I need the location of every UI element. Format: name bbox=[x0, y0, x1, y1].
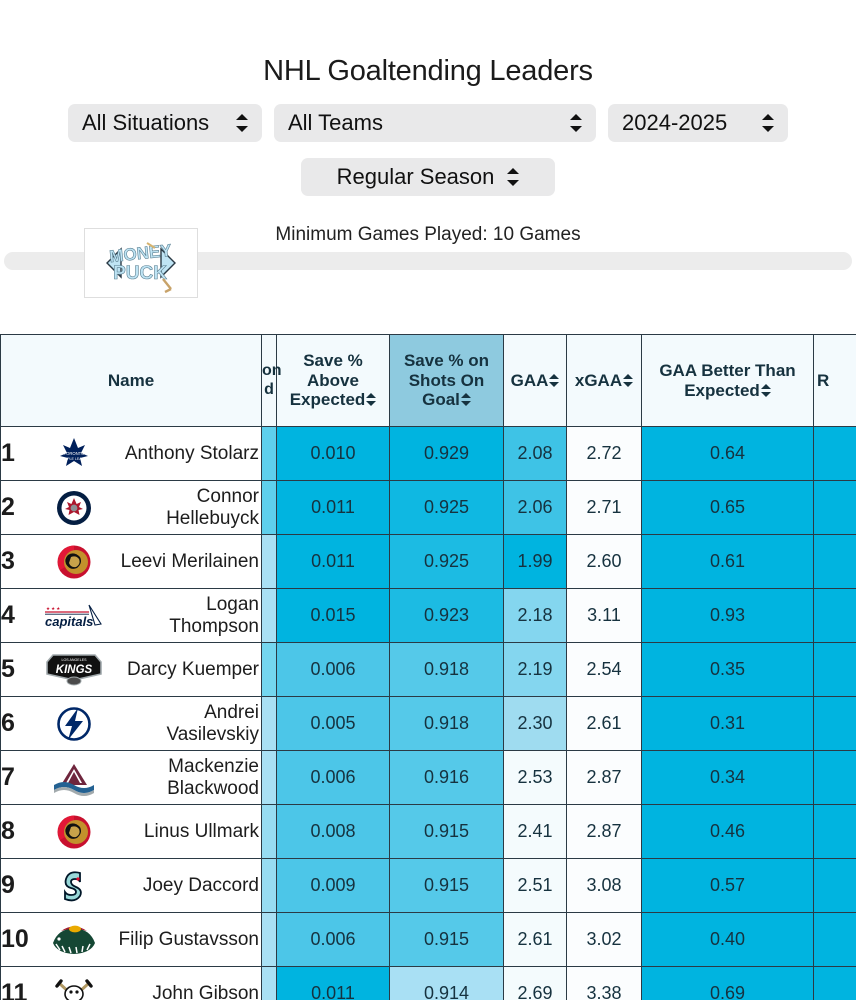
cell-clipped-right-column bbox=[814, 643, 856, 697]
svg-text:KINGS: KINGS bbox=[56, 664, 93, 676]
column-header-clipped-right-label: R bbox=[817, 371, 829, 390]
cell-clipped-column bbox=[262, 913, 277, 967]
situation-select-value: All Situations bbox=[82, 110, 219, 136]
player-name[interactable]: Andrei Vasilevskiy bbox=[113, 702, 261, 745]
svg-text:LOS ANGELES: LOS ANGELES bbox=[62, 658, 88, 662]
team-logo-toronto-maple-leafs-icon[interactable]: TORONTOMAPLE LEAFS bbox=[43, 432, 105, 476]
sort-indicator-icon[interactable] bbox=[461, 392, 471, 407]
team-logo-colorado-avalanche-icon[interactable] bbox=[43, 756, 105, 800]
team-logo-ottawa-senators-icon[interactable] bbox=[43, 810, 105, 854]
cell-gaa-better-than-expected: 0.40 bbox=[642, 913, 814, 967]
cell-save-pct-above-expected: 0.011 bbox=[277, 481, 390, 535]
filter-row-secondary: Regular Season bbox=[0, 158, 856, 196]
cell-save-pct-above-expected: 0.006 bbox=[277, 643, 390, 697]
svg-text:capitals: capitals bbox=[45, 614, 93, 629]
cell-gaa-better-than-expected: 0.46 bbox=[642, 805, 814, 859]
cell-save-pct-above-expected: 0.015 bbox=[277, 589, 390, 643]
season-type-select-value: Regular Season bbox=[337, 164, 507, 190]
column-header-name[interactable]: Name bbox=[1, 335, 262, 427]
table-row[interactable]: 11John Gibson0.0110.9142.693.380.69 bbox=[1, 967, 856, 1000]
rank-number: 8 bbox=[1, 817, 35, 846]
player-name[interactable]: Filip Gustavsson bbox=[113, 929, 261, 950]
column-header-save-pct-shots-on-goal[interactable]: Save % on Shots On Goal bbox=[390, 335, 504, 427]
table-row[interactable]: 6Andrei Vasilevskiy0.0050.9182.302.610.3… bbox=[1, 697, 856, 751]
leaders-table: Name on d Save % Above Expected Save % o… bbox=[0, 334, 856, 1000]
column-header-clipped-top: on bbox=[262, 362, 276, 380]
season-select[interactable]: 2024-2025 bbox=[608, 104, 788, 142]
cell-gaa-better-than-expected: 0.65 bbox=[642, 481, 814, 535]
rank-number: 5 bbox=[1, 655, 35, 684]
cell-rank-name: 5LOS ANGELESKINGSDarcy Kuemper bbox=[1, 643, 262, 697]
cell-clipped-right-column bbox=[814, 805, 856, 859]
cell-clipped-right-column bbox=[814, 859, 856, 913]
cell-gaa-better-than-expected: 0.34 bbox=[642, 751, 814, 805]
cell-xgaa: 2.71 bbox=[567, 481, 642, 535]
cell-xgaa: 2.54 bbox=[567, 643, 642, 697]
cell-xgaa: 3.08 bbox=[567, 859, 642, 913]
rank-number: 2 bbox=[1, 493, 35, 522]
cell-save-pct-shots-on-goal: 0.923 bbox=[390, 589, 504, 643]
sort-indicator-icon[interactable] bbox=[549, 373, 559, 388]
cell-xgaa: 2.87 bbox=[567, 805, 642, 859]
column-header-gaa[interactable]: GAA bbox=[504, 335, 567, 427]
cell-save-pct-above-expected: 0.006 bbox=[277, 913, 390, 967]
chevron-updown-icon bbox=[761, 113, 774, 133]
rank-number: 10 bbox=[1, 925, 35, 954]
team-logo-los-angeles-kings-icon[interactable]: LOS ANGELESKINGS bbox=[43, 648, 105, 692]
rank-number: 9 bbox=[1, 871, 35, 900]
chevron-updown-icon bbox=[506, 167, 519, 187]
cell-save-pct-shots-on-goal: 0.915 bbox=[390, 805, 504, 859]
cell-rank-name: 8Linus Ullmark bbox=[1, 805, 262, 859]
cell-clipped-right-column bbox=[814, 481, 856, 535]
rank-number: 1 bbox=[1, 439, 35, 468]
cell-gaa: 2.51 bbox=[504, 859, 567, 913]
cell-save-pct-shots-on-goal: 0.914 bbox=[390, 967, 504, 1000]
table-row[interactable]: 4★ ★ ★capitalsLogan Thompson0.0150.9232.… bbox=[1, 589, 856, 643]
cell-save-pct-above-expected: 0.008 bbox=[277, 805, 390, 859]
table-row[interactable]: 2Connor Hellebuyck0.0110.9252.062.710.65 bbox=[1, 481, 856, 535]
cell-clipped-right-column bbox=[814, 967, 856, 1000]
cell-clipped-right-column bbox=[814, 589, 856, 643]
cell-clipped-right-column bbox=[814, 427, 856, 481]
cell-gaa: 2.19 bbox=[504, 643, 567, 697]
table-row[interactable]: 1TORONTOMAPLE LEAFSAnthony Stolarz0.0100… bbox=[1, 427, 856, 481]
cell-save-pct-shots-on-goal: 0.918 bbox=[390, 643, 504, 697]
cell-clipped-column bbox=[262, 481, 277, 535]
cell-gaa: 2.41 bbox=[504, 805, 567, 859]
cell-gaa-better-than-expected: 0.64 bbox=[642, 427, 814, 481]
cell-gaa-better-than-expected: 0.69 bbox=[642, 967, 814, 1000]
cell-gaa-better-than-expected: 0.35 bbox=[642, 643, 814, 697]
team-logo-seattle-kraken-icon[interactable] bbox=[43, 864, 105, 908]
cell-rank-name: 6Andrei Vasilevskiy bbox=[1, 697, 262, 751]
column-header-xgaa-label: xGAA bbox=[575, 371, 622, 390]
cell-gaa: 2.69 bbox=[504, 967, 567, 1000]
team-logo-ottawa-senators-icon[interactable] bbox=[43, 540, 105, 584]
rank-number: 4 bbox=[1, 601, 35, 630]
cell-xgaa: 3.38 bbox=[567, 967, 642, 1000]
chevron-updown-icon bbox=[569, 113, 582, 133]
cell-xgaa: 2.87 bbox=[567, 751, 642, 805]
cell-clipped-column bbox=[262, 535, 277, 589]
cell-clipped-column bbox=[262, 805, 277, 859]
cell-rank-name: 3Leevi Merilainen bbox=[1, 535, 262, 589]
team-logo-anaheim-ducks-icon[interactable] bbox=[43, 972, 105, 1000]
player-name[interactable]: Mackenzie Blackwood bbox=[113, 756, 261, 799]
cell-save-pct-shots-on-goal: 0.929 bbox=[390, 427, 504, 481]
cell-clipped-column bbox=[262, 859, 277, 913]
cell-rank-name: 11John Gibson bbox=[1, 967, 262, 1000]
team-logo-winnipeg-jets-icon[interactable] bbox=[43, 486, 105, 530]
cell-xgaa: 3.11 bbox=[567, 589, 642, 643]
player-name[interactable]: Joey Daccord bbox=[113, 875, 261, 896]
cell-clipped-column bbox=[262, 697, 277, 751]
table-row[interactable]: 8Linus Ullmark0.0080.9152.412.870.46 bbox=[1, 805, 856, 859]
sort-indicator-icon[interactable] bbox=[761, 383, 771, 398]
player-name[interactable]: Linus Ullmark bbox=[113, 821, 261, 842]
table-row[interactable]: 3Leevi Merilainen0.0110.9251.992.600.61 bbox=[1, 535, 856, 589]
cell-rank-name: 4★ ★ ★capitalsLogan Thompson bbox=[1, 589, 262, 643]
cell-clipped-right-column bbox=[814, 913, 856, 967]
sort-indicator-icon[interactable] bbox=[623, 373, 633, 388]
team-logo-minnesota-wild-icon[interactable] bbox=[43, 918, 105, 962]
svg-text:★ ★ ★: ★ ★ ★ bbox=[46, 606, 60, 611]
cell-gaa: 2.61 bbox=[504, 913, 567, 967]
cell-clipped-column bbox=[262, 427, 277, 481]
svg-text:MAPLE LEAFS: MAPLE LEAFS bbox=[62, 457, 87, 461]
player-name[interactable]: Darcy Kuemper bbox=[113, 659, 261, 680]
cell-clipped-column bbox=[262, 967, 277, 1000]
rank-number: 7 bbox=[1, 763, 35, 792]
cell-save-pct-above-expected: 0.005 bbox=[277, 697, 390, 751]
player-name[interactable]: Logan Thompson bbox=[113, 594, 261, 637]
column-header-xgaa[interactable]: xGAA bbox=[567, 335, 642, 427]
team-logo-washington-capitals-icon[interactable]: ★ ★ ★capitals bbox=[43, 594, 105, 638]
cell-save-pct-shots-on-goal: 0.925 bbox=[390, 535, 504, 589]
rank-number: 11 bbox=[1, 979, 35, 1000]
cell-xgaa: 2.72 bbox=[567, 427, 642, 481]
cell-clipped-right-column bbox=[814, 751, 856, 805]
player-name[interactable]: Anthony Stolarz bbox=[113, 443, 261, 464]
column-header-save-pct-shots-on-goal-label: Save % on Shots On Goal bbox=[404, 351, 489, 409]
column-header-gaa-better-than-expected[interactable]: GAA Better Than Expected bbox=[642, 335, 814, 427]
rank-number: 3 bbox=[1, 547, 35, 576]
column-header-clipped-right[interactable]: R bbox=[814, 335, 856, 427]
cell-clipped-column bbox=[262, 643, 277, 697]
cell-clipped-right-column bbox=[814, 697, 856, 751]
cell-gaa: 2.53 bbox=[504, 751, 567, 805]
table-body: 1TORONTOMAPLE LEAFSAnthony Stolarz0.0100… bbox=[1, 427, 856, 1000]
filter-row-primary: All Situations All Teams 2024-2025 bbox=[0, 104, 856, 142]
cell-gaa: 1.99 bbox=[504, 535, 567, 589]
cell-rank-name: 9Joey Daccord bbox=[1, 859, 262, 913]
cell-rank-name: 7Mackenzie Blackwood bbox=[1, 751, 262, 805]
column-header-clipped[interactable]: on d bbox=[262, 335, 277, 427]
team-logo-tampa-bay-lightning-icon[interactable] bbox=[43, 702, 105, 746]
column-header-gaa-better-than-expected-label: GAA Better Than Expected bbox=[659, 361, 795, 400]
cell-gaa-better-than-expected: 0.61 bbox=[642, 535, 814, 589]
cell-rank-name: 10Filip Gustavsson bbox=[1, 913, 262, 967]
svg-text:TORONTO: TORONTO bbox=[64, 451, 86, 456]
cell-save-pct-shots-on-goal: 0.918 bbox=[390, 697, 504, 751]
table-row[interactable]: 5LOS ANGELESKINGSDarcy Kuemper0.0060.918… bbox=[1, 643, 856, 697]
cell-save-pct-above-expected: 0.011 bbox=[277, 967, 390, 1000]
table-row[interactable]: 10Filip Gustavsson0.0060.9152.613.020.40 bbox=[1, 913, 856, 967]
cell-clipped-column bbox=[262, 751, 277, 805]
cell-gaa: 2.06 bbox=[504, 481, 567, 535]
moneypuck-logo[interactable]: MONEY PUCK bbox=[84, 228, 198, 298]
column-header-gaa-label: GAA bbox=[511, 371, 549, 390]
table-row[interactable]: 7Mackenzie Blackwood0.0060.9162.532.870.… bbox=[1, 751, 856, 805]
table-header: Name on d Save % Above Expected Save % o… bbox=[1, 335, 856, 427]
chevron-updown-icon bbox=[235, 113, 248, 133]
cell-save-pct-above-expected: 0.006 bbox=[277, 751, 390, 805]
cell-clipped-column bbox=[262, 589, 277, 643]
cell-rank-name: 2Connor Hellebuyck bbox=[1, 481, 262, 535]
cell-xgaa: 3.02 bbox=[567, 913, 642, 967]
column-header-name-label: Name bbox=[108, 371, 154, 390]
moneypuck-logo-icon: MONEY PUCK bbox=[85, 229, 197, 297]
player-name[interactable]: Leevi Merilainen bbox=[113, 551, 261, 572]
cell-gaa-better-than-expected: 0.31 bbox=[642, 697, 814, 751]
svg-text:PUCK: PUCK bbox=[113, 263, 167, 284]
page-root: NHL Goaltending Leaders All Situations A… bbox=[0, 0, 856, 1000]
cell-save-pct-above-expected: 0.010 bbox=[277, 427, 390, 481]
cell-save-pct-shots-on-goal: 0.915 bbox=[390, 913, 504, 967]
cell-gaa-better-than-expected: 0.93 bbox=[642, 589, 814, 643]
table-row[interactable]: 9Joey Daccord0.0090.9152.513.080.57 bbox=[1, 859, 856, 913]
cell-gaa-better-than-expected: 0.57 bbox=[642, 859, 814, 913]
cell-save-pct-above-expected: 0.009 bbox=[277, 859, 390, 913]
team-select-value: All Teams bbox=[288, 110, 393, 136]
cell-xgaa: 2.61 bbox=[567, 697, 642, 751]
column-header-clipped-bottom: d bbox=[262, 381, 276, 399]
column-header-save-pct-above-expected[interactable]: Save % Above Expected bbox=[277, 335, 390, 427]
player-name[interactable]: Connor Hellebuyck bbox=[113, 486, 261, 529]
cell-save-pct-shots-on-goal: 0.925 bbox=[390, 481, 504, 535]
column-header-save-pct-above-expected-label: Save % Above Expected bbox=[290, 351, 366, 409]
sort-indicator-icon[interactable] bbox=[366, 392, 376, 407]
cell-save-pct-above-expected: 0.011 bbox=[277, 535, 390, 589]
situation-select[interactable]: All Situations bbox=[68, 104, 262, 142]
team-select[interactable]: All Teams bbox=[274, 104, 596, 142]
cell-xgaa: 2.60 bbox=[567, 535, 642, 589]
cell-rank-name: 1TORONTOMAPLE LEAFSAnthony Stolarz bbox=[1, 427, 262, 481]
page-title: NHL Goaltending Leaders bbox=[0, 0, 856, 88]
table-header-row: Name on d Save % Above Expected Save % o… bbox=[1, 335, 856, 427]
season-type-select[interactable]: Regular Season bbox=[301, 158, 555, 196]
cell-gaa: 2.30 bbox=[504, 697, 567, 751]
rank-number: 6 bbox=[1, 709, 35, 738]
cell-gaa: 2.18 bbox=[504, 589, 567, 643]
cell-gaa: 2.08 bbox=[504, 427, 567, 481]
cell-save-pct-shots-on-goal: 0.916 bbox=[390, 751, 504, 805]
cell-clipped-right-column bbox=[814, 535, 856, 589]
leaders-table-container[interactable]: Name on d Save % Above Expected Save % o… bbox=[0, 334, 856, 1000]
player-name[interactable]: John Gibson bbox=[113, 983, 261, 1000]
season-select-value: 2024-2025 bbox=[622, 110, 737, 136]
cell-save-pct-shots-on-goal: 0.915 bbox=[390, 859, 504, 913]
